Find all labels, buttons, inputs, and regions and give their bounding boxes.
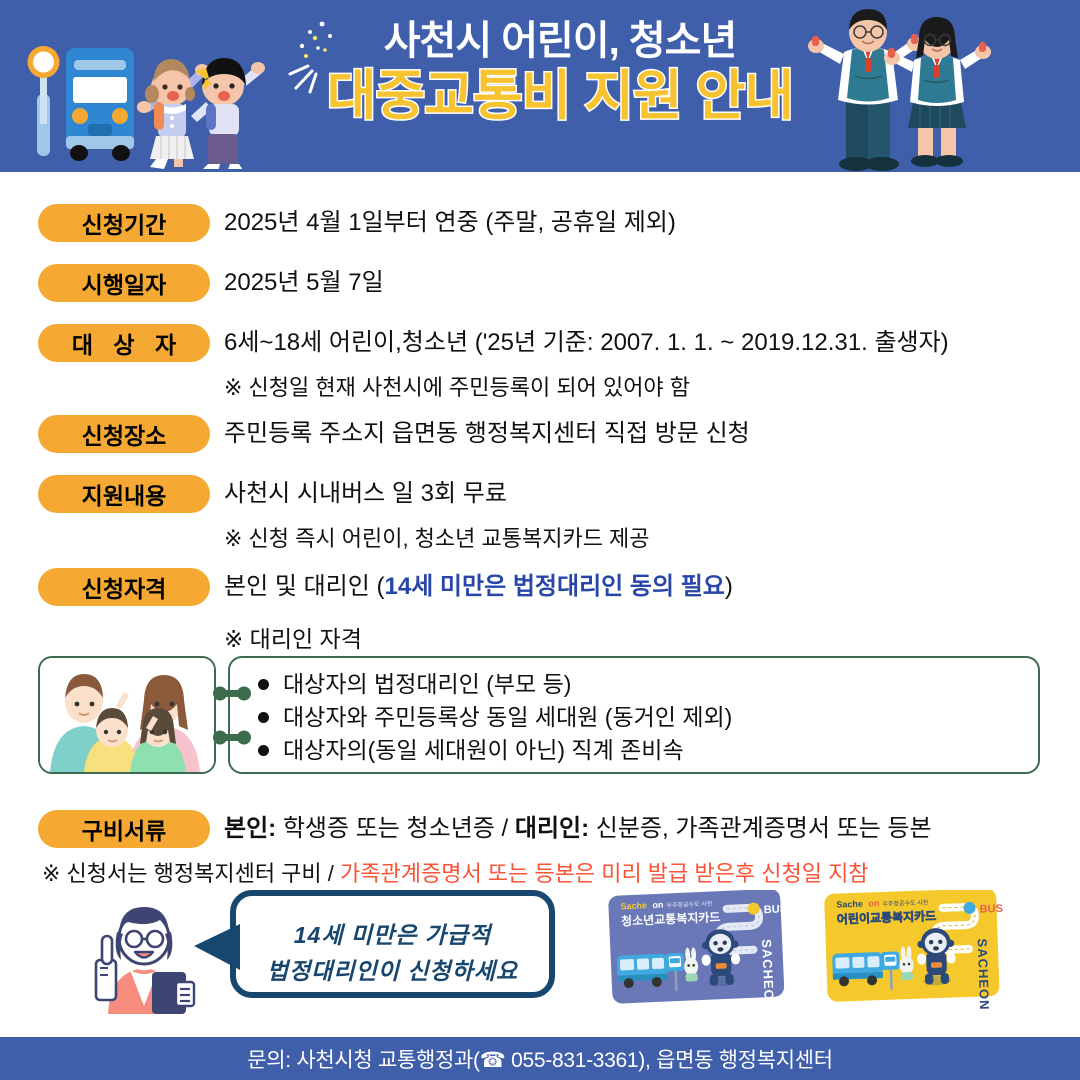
- speech-bubble-line2: 법정대리인이 신청하세요: [236, 952, 549, 986]
- value-start-date: 2025년 5월 7일: [224, 271, 384, 295]
- bullet-dot-icon: [258, 745, 269, 756]
- svg-text:BUS: BUS: [764, 903, 788, 916]
- header-title-group: 사천시 어린이, 청소년 대중교통비 지원 안내: [300, 18, 820, 129]
- list-item-label: 대상자의(동일 세대원이 아닌) 직계 존비속: [283, 734, 684, 767]
- label-start-date: 시행일자: [38, 264, 210, 302]
- label-eligible-persons: 대 상 자: [38, 324, 210, 362]
- label-application-place: 신청장소: [38, 415, 210, 453]
- svg-text:BUS: BUS: [979, 903, 1003, 916]
- transit-card-group: BUS Sache on 우주항공수도 사천 청소년교통복지카드 SACHEON: [606, 890, 1006, 1015]
- note-required-documents: ※ 신청서는 행정복지센터 구비 / 가족관계증명서 또는 등본은 미리 발급 …: [42, 856, 869, 888]
- bullet-dot-icon: [258, 712, 269, 723]
- svg-text:on: on: [868, 898, 879, 908]
- documents-note-highlight: 가족관계증명서 또는 등본은 미리 발급 받은후 신청일 지참: [340, 861, 869, 886]
- svg-text:Sache: Sache: [620, 900, 647, 911]
- two-students-thumbs-up-illustration: [808, 6, 1008, 172]
- page-title-line1: 사천시 어린이, 청소년: [300, 18, 820, 65]
- poster-root: 사천시 어린이, 청소년 대중교통비 지원 안내: [0, 0, 1080, 1080]
- proxy-qualification-note: ※ 대리인 자격: [224, 620, 362, 654]
- value-application-place: 주민등록 주소지 읍면동 행정복지센터 직접 방문 신청: [224, 422, 750, 446]
- value-support-content: 사천시 시내버스 일 3회 무료: [224, 482, 507, 506]
- bus-stop-bus-children-illustration: [8, 24, 293, 172]
- list-item-label: 대상자와 주민등록상 동일 세대원 (동거인 제외): [283, 701, 732, 734]
- value-application-period: 2025년 4월 1일부터 연중 (주말, 공휴일 제외): [224, 211, 676, 235]
- label-support-content: 지원내용: [38, 475, 210, 513]
- family-of-four-photo: [38, 656, 216, 774]
- documents-proxy-label: 대리인:: [515, 815, 589, 842]
- speech-bubble-line1: 14세 미만은 가급적: [236, 916, 549, 950]
- list-item: 대상자의(동일 세대원이 아닌) 직계 존비속: [258, 734, 1038, 767]
- poster-footer: 문의: 사천시청 교통행정과(☎ 055-831-3361), 읍면동 행정복지…: [0, 1037, 1080, 1080]
- qualification-suffix: ): [725, 573, 733, 600]
- documents-note-normal: ※ 신청서는 행정복지센터 구비 /: [42, 861, 340, 886]
- dumbbell-connector-icons: [212, 682, 252, 759]
- poster-body: 신청기간 2025년 4월 1일부터 연중 (주말, 공휴일 제외) 시행일자 …: [0, 172, 1080, 1037]
- svg-text:on: on: [652, 900, 663, 910]
- value-required-documents: 본인: 학생증 또는 청소년증 / 대리인: 신분증, 가족관계증명서 또는 등…: [224, 817, 932, 841]
- note-support-content: ※ 신청 즉시 어린이, 청소년 교통복지카드 제공: [224, 521, 650, 553]
- value-eligible-persons: 6세~18세 어린이,청소년 ('25년 기준: 2007. 1. 1. ~ 2…: [224, 331, 949, 355]
- value-applicant-qualification: 본인 및 대리인 (14세 미만은 법정대리인 동의 필요): [224, 575, 733, 599]
- poster-header: 사천시 어린이, 청소년 대중교통비 지원 안내: [0, 0, 1080, 172]
- label-applicant-qualification: 신청자격: [38, 568, 210, 606]
- qualification-emphasis: 14세 미만은 법정대리인 동의 필요: [384, 573, 724, 600]
- bullet-dot-icon: [258, 679, 269, 690]
- list-item: 대상자와 주민등록상 동일 세대원 (동거인 제외): [258, 701, 1038, 734]
- page-title-line2: 대중교통비 지원 안내: [300, 65, 820, 129]
- svg-text:Sache: Sache: [836, 899, 863, 910]
- note-eligible-persons: ※ 신청일 현재 사천시에 주민등록이 되어 있어야 함: [224, 370, 690, 402]
- documents-self-label: 본인:: [224, 815, 276, 842]
- svg-text:SACHEON: SACHEON: [975, 938, 993, 1010]
- list-item-label: 대상자의 법정대리인 (부모 등): [283, 668, 571, 701]
- footer-contact-text: 문의: 사천시청 교통행정과(☎ 055-831-3361), 읍면동 행정복지…: [247, 1044, 833, 1074]
- speech-bubble-tail: [188, 920, 244, 981]
- documents-self-value: 학생증 또는 청소년증 /: [276, 815, 515, 842]
- list-item: 대상자의 법정대리인 (부모 등): [258, 668, 1038, 701]
- svg-text:SACHEON: SACHEON: [759, 939, 777, 1010]
- speech-bubble: 14세 미만은 가급적 법정대리인이 신청하세요: [230, 890, 555, 998]
- proxy-qualification-list: 대상자의 법정대리인 (부모 등) 대상자와 주민등록상 동일 세대원 (동거인…: [228, 656, 1040, 774]
- documents-proxy-value: 신분증, 가족관계증명서 또는 등본: [589, 815, 931, 842]
- qualification-prefix: 본인 및 대리인 (: [224, 573, 384, 600]
- label-required-documents: 구비서류: [38, 810, 210, 848]
- label-application-period: 신청기간: [38, 204, 210, 242]
